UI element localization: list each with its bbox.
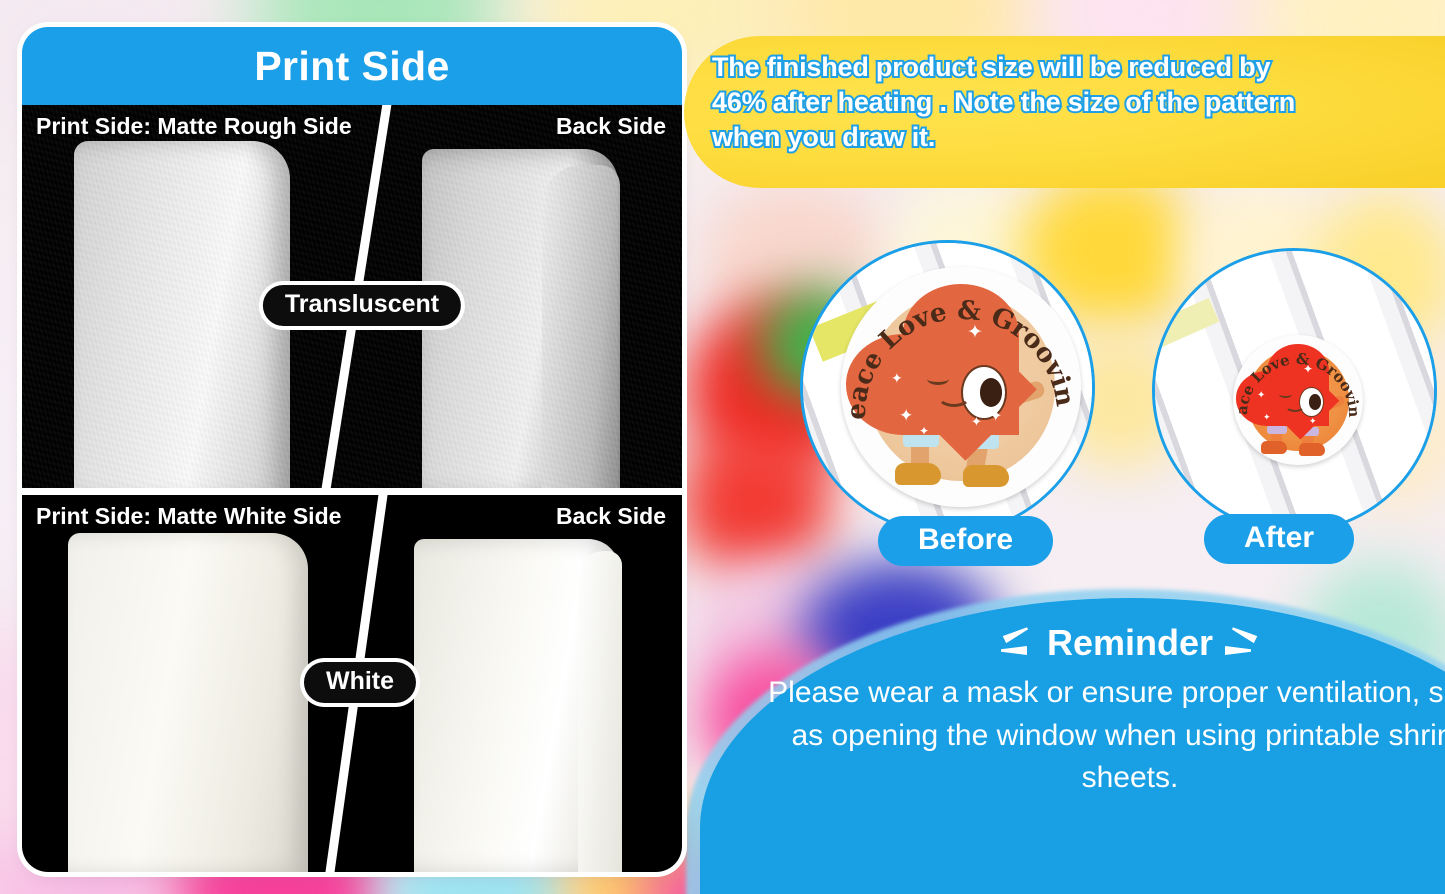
sparkle-icon: ✦ [919,425,929,437]
sparkle-icon: ✦ [989,409,1002,425]
smile-before [937,385,971,407]
sparkle-icon: ✦ [1257,391,1265,401]
banner-line-1: The finished product size will be reduce… [712,50,1443,85]
reminder-panel: Reminder Please wear a mask or ensure pr… [700,598,1445,894]
label-back-side-white: Back Side [556,503,666,530]
tag-white: White [304,662,416,703]
sparkle-icon: ✦ [1309,417,1317,426]
reminder-header: Reminder [700,622,1445,664]
sparkle-rays-right-icon [1225,624,1259,662]
roll-matte-white-front [68,533,308,872]
page-title: Print Side [254,43,449,90]
sparkle-icon: ✦ [1263,413,1271,422]
banner-line-3: when you draw it. [712,120,1443,155]
shoe-right-after [1299,443,1325,456]
card-header: Print Side [22,27,682,105]
smile-after [1285,399,1305,412]
eye-pupil-after [1309,394,1321,410]
wink-eye-before [927,373,949,385]
label-print-side-rough: Print Side: Matte Rough Side [36,113,352,140]
before-label-pill: Before [878,516,1053,566]
roll-matte-white-back-edge [578,551,622,872]
photo-panel-white: Print Side: Matte White Side Back Side W… [22,495,682,872]
roll-matte-rough-front [74,141,290,488]
before-photo-circle: Peace Love & Groovines ✦ ✦ ✦ ✦ ✦ ✦ [800,240,1095,535]
sparkle-icon: ✦ [967,323,983,342]
tag-transluscent: Transluscent [263,285,461,326]
shoe-right-before [963,465,1009,487]
sparkle-icon: ✦ [891,371,903,385]
roll-matte-rough-back-edge [542,165,620,488]
sparkle-icon: ✦ [1303,363,1313,375]
banner-line-2: 46% after heating . Note the size of the… [712,85,1443,120]
after-label-pill: After [1204,514,1354,564]
sparkle-icon: ✦ [899,407,913,424]
shoe-left-after [1261,441,1287,454]
sticker-after: Peace Love & Groovines ✦ ✦ ✦ ✦ [1233,335,1363,465]
sparkle-icon: ✦ [971,415,982,428]
after-photo-circle: Peace Love & Groovines ✦ ✦ ✦ ✦ [1152,248,1437,533]
label-back-side-rough: Back Side [556,113,666,140]
reminder-body-text: Please wear a mask or ensure proper vent… [700,672,1445,800]
sparkle-rays-left-icon [1001,624,1035,662]
shrink-notice-banner: The finished product size will be reduce… [684,36,1445,188]
label-print-side-white: Print Side: Matte White Side [36,503,341,530]
reminder-title: Reminder [1047,622,1213,664]
sticker-before: Peace Love & Groovines ✦ ✦ ✦ ✦ ✦ ✦ [841,267,1081,507]
shoe-left-before [895,463,941,485]
photo-panel-transluscent: Print Side: Matte Rough Side Back Side T… [22,105,682,488]
eye-pupil-before [980,378,1002,407]
print-side-card: Print Side Print Side: Matte Rough Side … [22,27,682,872]
wink-eye-after [1279,391,1292,398]
